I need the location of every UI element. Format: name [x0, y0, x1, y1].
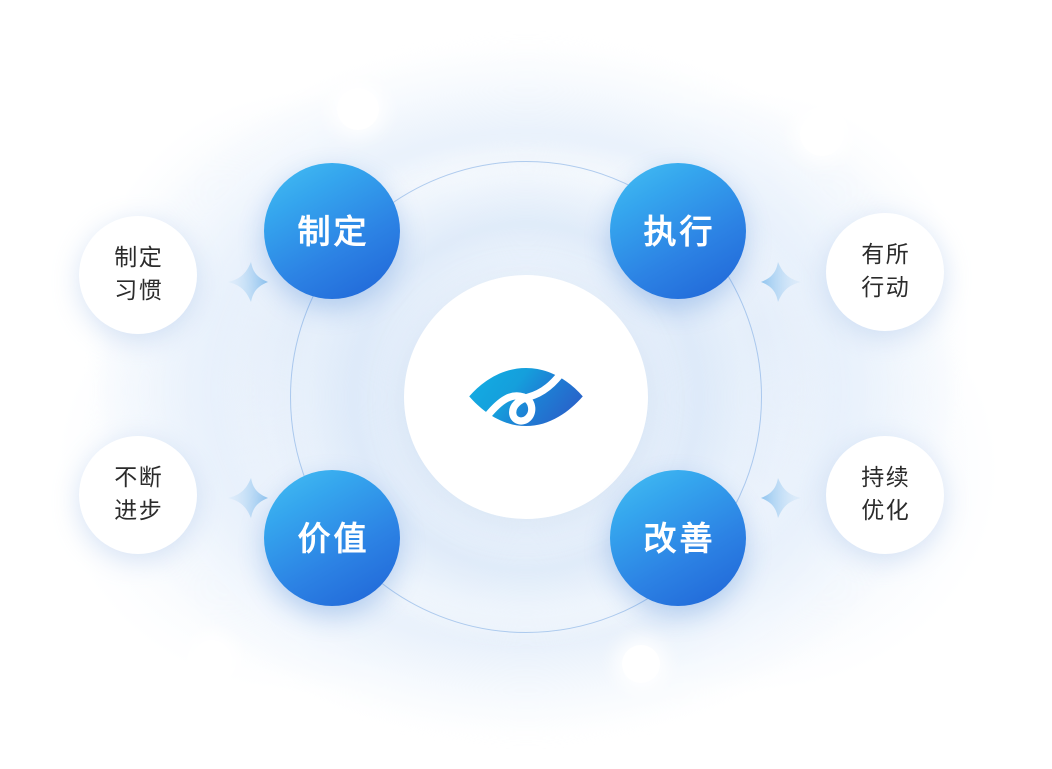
decorative-circle-top-left: [337, 88, 379, 130]
outer-label-line2: 优化: [860, 495, 911, 528]
decorative-circle-bottom-right: [622, 645, 660, 683]
outer-label-take-action[interactable]: 有所 行动: [826, 213, 944, 331]
outer-label-continuous-progress[interactable]: 不断 进步: [79, 436, 197, 554]
outer-label-line1: 有所: [860, 239, 911, 272]
cycle-diagram: 制定 习惯 不断 进步 有所 行动 持续 优化: [0, 0, 1052, 769]
node-value[interactable]: 价值: [264, 470, 400, 606]
outer-label-line2: 行动: [860, 272, 911, 305]
node-label: 执行: [641, 215, 716, 248]
outer-label-line1: 不断: [113, 462, 164, 495]
outer-label-continuous-optimization[interactable]: 持续 优化: [826, 436, 944, 554]
outer-label-line1: 持续: [860, 462, 911, 495]
node-label: 改善: [641, 522, 716, 555]
eye-swirl-logo-icon: [460, 331, 592, 463]
center-disc: [404, 275, 648, 519]
node-execute[interactable]: 执行: [610, 163, 746, 299]
outer-label-line1: 制定: [113, 242, 164, 275]
decorative-circle-top-right: [800, 112, 844, 156]
decorative-circle-bottom-left: [192, 640, 232, 680]
arrow-right-icon: [222, 256, 274, 308]
node-label: 制定: [295, 215, 370, 248]
arrow-right-icon: [222, 472, 274, 524]
outer-label-line2: 进步: [113, 495, 164, 528]
outer-label-make-habit[interactable]: 制定 习惯: [79, 216, 197, 334]
outer-label-line2: 习惯: [113, 275, 164, 308]
node-label: 价值: [295, 522, 370, 555]
node-make[interactable]: 制定: [264, 163, 400, 299]
node-improve[interactable]: 改善: [610, 470, 746, 606]
arrow-left-icon: [755, 256, 807, 308]
arrow-left-icon: [755, 472, 807, 524]
